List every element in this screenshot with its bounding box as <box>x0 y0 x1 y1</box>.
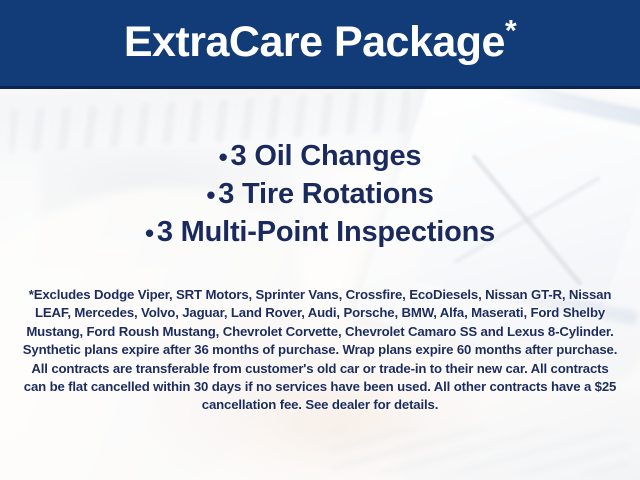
benefit-label: 3 Oil Changes <box>231 140 422 172</box>
page-title-text: ExtraCare Package <box>124 18 505 66</box>
bullet-icon: • <box>219 142 231 172</box>
disclaimer-text: *Excludes Dodge Viper, SRT Motors, Sprin… <box>22 286 618 415</box>
benefit-label: 3 Tire Rotations <box>218 178 433 210</box>
bullet-icon: • <box>206 180 218 210</box>
benefits-list: •3 Oil Changes •3 Tire Rotations •3 Mult… <box>0 138 640 252</box>
list-item: •3 Oil Changes <box>0 138 640 176</box>
list-item: •3 Multi-Point Inspections <box>0 214 640 252</box>
page-title: ExtraCare Package* <box>124 21 516 66</box>
list-item: •3 Tire Rotations <box>0 176 640 214</box>
bullet-icon: • <box>145 218 157 248</box>
benefit-label: 3 Multi-Point Inspections <box>157 216 495 248</box>
banner-header: ExtraCare Package* <box>0 0 640 89</box>
title-asterisk: * <box>505 14 516 47</box>
extracare-package-banner: ExtraCare Package* •3 Oil Changes •3 Tir… <box>0 0 640 480</box>
